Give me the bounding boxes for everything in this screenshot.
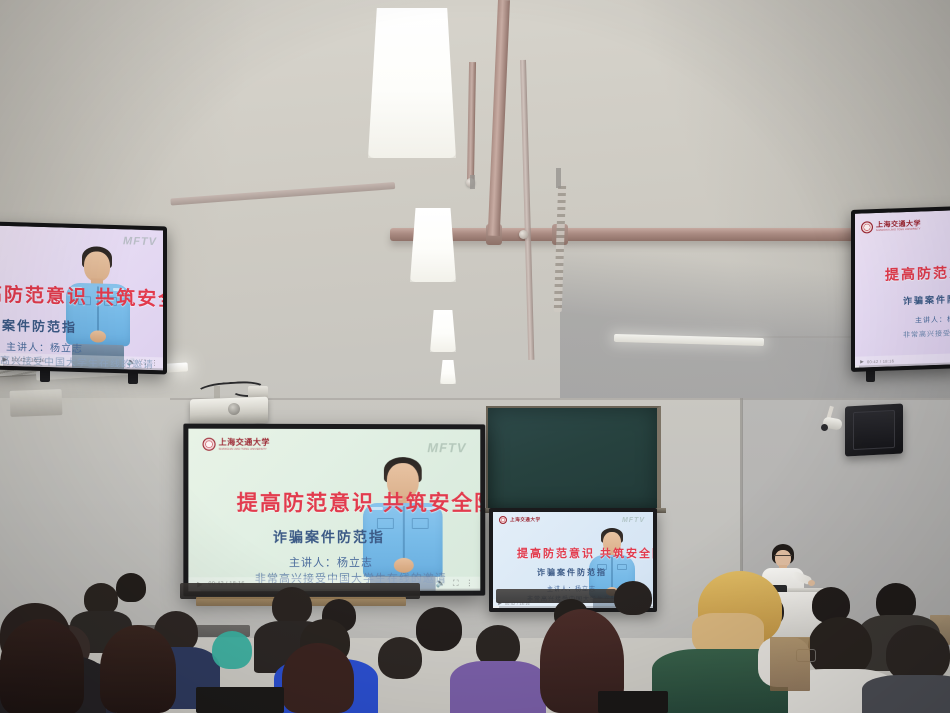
- slide-watermark: MFTV: [427, 440, 466, 455]
- ceiling-light-panel: [368, 8, 456, 158]
- institution-name: 上海交通大学: [510, 518, 541, 523]
- audience-head: [416, 607, 462, 651]
- institution-name-en: SHANGHAI JIAO TONG UNIVERSITY: [219, 447, 270, 450]
- fullscreen-icon[interactable]: ⛶: [141, 360, 146, 367]
- audience-head: [808, 617, 872, 677]
- institution-name: 上海交通大学: [219, 438, 270, 446]
- player-time: 00:42 / 18:16: [867, 358, 894, 364]
- chair-wood: [770, 637, 810, 691]
- audience-body: [862, 675, 950, 713]
- audience-head: [614, 581, 652, 615]
- wall-speaker: [845, 403, 903, 456]
- slide-subtitle: 诈骗案件防范指: [273, 527, 385, 547]
- audience-head: [100, 625, 176, 713]
- lecture-hall-photo: MFTV 提高防范意识 共筑安全防线 诈骗案件防范指 主讲人：杨立志 非常高兴接…: [0, 0, 950, 713]
- projector-lens: [228, 403, 240, 415]
- wall-equipment-box: [10, 389, 63, 417]
- play-icon[interactable]: ►: [859, 359, 865, 365]
- ceiling-light-panel: [440, 360, 456, 384]
- glasses-icon: [774, 555, 792, 559]
- chalkboard: [486, 406, 661, 511]
- wall-ceiling-line: [170, 398, 950, 400]
- pipe-hanger: [470, 175, 475, 189]
- right-tv-slide: [855, 210, 950, 368]
- player-progress-fill: [855, 366, 859, 368]
- desk-row: [496, 589, 616, 603]
- chair-back: [598, 691, 668, 713]
- sjtu-logo-right: 上海交通大学 SHANGHAI JIAO TONG UNIVERSITY: [861, 219, 921, 233]
- sjtu-seal-icon: [861, 221, 873, 233]
- sjtu-logo-main: 上海交通大学 SHANGHAI JIAO TONG UNIVERSITY: [203, 438, 270, 451]
- slide-watermark: MFTV: [123, 235, 157, 248]
- ceiling-light-panel: [430, 310, 456, 352]
- slide-watermark: MFTV: [622, 517, 645, 524]
- audience-head: [272, 587, 312, 625]
- audience-head: [0, 619, 84, 713]
- slide-subtitle: 诈骗案件防范指: [903, 291, 950, 307]
- speaker-grille: [853, 410, 895, 450]
- player-time: 00:42 / 18:16: [12, 357, 45, 364]
- audience-shoulder: [212, 631, 252, 669]
- slide-speaker-label: 主讲人：杨立志: [915, 314, 950, 326]
- audience-head: [116, 573, 146, 602]
- sjtu-seal-icon: [203, 438, 216, 451]
- more-options-icon[interactable]: ⋮: [151, 360, 158, 367]
- audience-head: [282, 643, 354, 713]
- volume-icon[interactable]: 🔊: [127, 359, 136, 366]
- slide-title: 提高防范意识 共筑安全防线: [237, 487, 485, 517]
- sjtu-logo-monitor: 上海交通大学: [499, 516, 541, 524]
- camera-lens-icon: [821, 424, 828, 431]
- audience-head: [378, 637, 422, 679]
- video-player-bar[interactable]: ► 00:42 / 18:16 ⋮: [855, 353, 950, 368]
- slide-subtitle: 诈骗案件防范指: [0, 314, 77, 336]
- ceiling-light-panel: [410, 208, 456, 282]
- sjtu-seal-icon: [499, 516, 507, 524]
- chair-back: [196, 687, 284, 713]
- right-wall-tv[interactable]: 上海交通大学 SHANGHAI JIAO TONG UNIVERSITY 提高防…: [851, 206, 950, 372]
- player-progress-fill: [0, 364, 3, 366]
- slide-title: 提高防范意识 共筑安全防线: [517, 545, 657, 561]
- audience-body: [450, 661, 546, 713]
- audience-area: [0, 563, 950, 713]
- sprinkler-head: [519, 230, 528, 239]
- left-wall-tv[interactable]: MFTV 提高防范意识 共筑安全防线 诈骗案件防范指 主讲人：杨立志 非常高兴接…: [0, 222, 167, 375]
- pipe-hanger: [556, 168, 561, 188]
- play-icon[interactable]: ►: [1, 355, 9, 363]
